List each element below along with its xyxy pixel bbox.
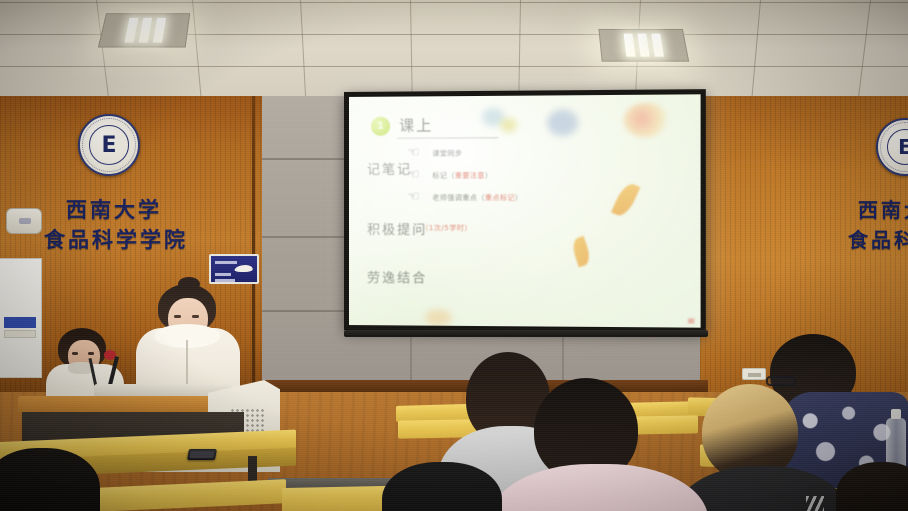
slide-title-rule <box>397 137 498 138</box>
smartphone-on-desk[interactable] <box>187 449 217 460</box>
university-crest-left: E <box>78 114 140 176</box>
slide-section-ask-note: （1次/5学时） <box>421 223 472 233</box>
crest-ring <box>880 122 908 172</box>
pointing-hand-icon: ☜ <box>407 147 425 160</box>
light-tube <box>651 34 664 57</box>
decor-flower <box>624 103 670 138</box>
wall-text-university: 西南大学 <box>66 194 162 224</box>
slide-content: 1 课上 记笔记 ☜ 课堂同步 ☜ 标记（重要注意） ☜ 老师强调重点（重点标记… <box>349 94 701 327</box>
slide-section-ask: 积极提问 <box>367 219 427 238</box>
slide-step-badge: 1 <box>371 117 390 136</box>
decor-blob-blue <box>547 109 578 136</box>
audience-student-blonde-highlights <box>676 384 826 511</box>
audience-student-front-left <box>0 448 100 511</box>
wall-text-college-right: 食品科 <box>848 224 908 253</box>
light-tube <box>152 18 165 42</box>
ceiling-light-fixture-1 <box>98 13 190 47</box>
slide-bullet-2: ☜ 标记（重要注意） <box>407 169 492 182</box>
audience-student-dark-jacket <box>382 462 502 511</box>
zipper <box>186 340 188 384</box>
pointing-hand-icon: ☜ <box>407 169 425 182</box>
decor-stamp <box>688 318 694 323</box>
eye <box>88 352 94 355</box>
light-tube <box>124 18 138 42</box>
slide-bullet-1: ☜ 课堂同步 <box>407 147 462 160</box>
projection-screen-bottom-bar <box>344 330 708 337</box>
crest-ring <box>82 118 136 172</box>
decor-blob-bottom <box>425 310 451 326</box>
shoulders <box>382 462 502 511</box>
slide-bullet-3-text: 老师强调重点（重点标记） <box>432 192 522 202</box>
light-tube <box>637 34 649 57</box>
arrow-icon <box>234 265 254 272</box>
eye <box>72 352 78 355</box>
decor-leaf-icon <box>570 236 593 267</box>
slide-bullet-1-text: 课堂同步 <box>432 148 462 158</box>
wall-text-college: 食品科学学院 <box>44 224 188 254</box>
eye <box>174 315 181 318</box>
slide-section-notes: 记笔记 <box>367 159 412 178</box>
exit-direction-sign <box>209 254 259 284</box>
wall-text-university-right: 西南大 <box>858 194 908 223</box>
slide-bullet-3: ☜ 老师强调重点（重点标记） <box>407 191 522 204</box>
slide-section-rest: 劳逸结合 <box>367 267 427 286</box>
shoulders <box>0 448 100 511</box>
audience-student-back-right <box>836 462 908 511</box>
light-tube <box>623 34 635 57</box>
ceiling-light-fixture-2 <box>598 29 689 62</box>
projection-surface: 1 课上 记笔记 ☜ 课堂同步 ☜ 标记（重要注意） ☜ 老师强调重点（重点标记… <box>349 94 701 327</box>
classroom-screenshot: E 西南大学 食品科学学院 E 西南大 食品科 <box>0 0 908 511</box>
sleeve-stripes <box>806 496 824 511</box>
decor-blob-yellow <box>500 118 516 132</box>
decor-leaf-icon <box>611 181 640 219</box>
ceiling-speaker <box>6 208 42 234</box>
pointing-hand-icon: ☜ <box>407 191 425 204</box>
shoulders <box>836 462 908 511</box>
slide-title: 课上 <box>399 114 433 135</box>
audience-student-pink-hoodie <box>512 378 670 511</box>
light-tube <box>138 18 151 42</box>
slide-bullet-2-text: 标记（重要注意） <box>432 170 492 180</box>
eye <box>192 315 199 318</box>
projection-screen[interactable]: 1 课上 记笔记 ☜ 课堂同步 ☜ 标记（重要注意） ☜ 老师强调重点（重点标记… <box>344 89 706 333</box>
